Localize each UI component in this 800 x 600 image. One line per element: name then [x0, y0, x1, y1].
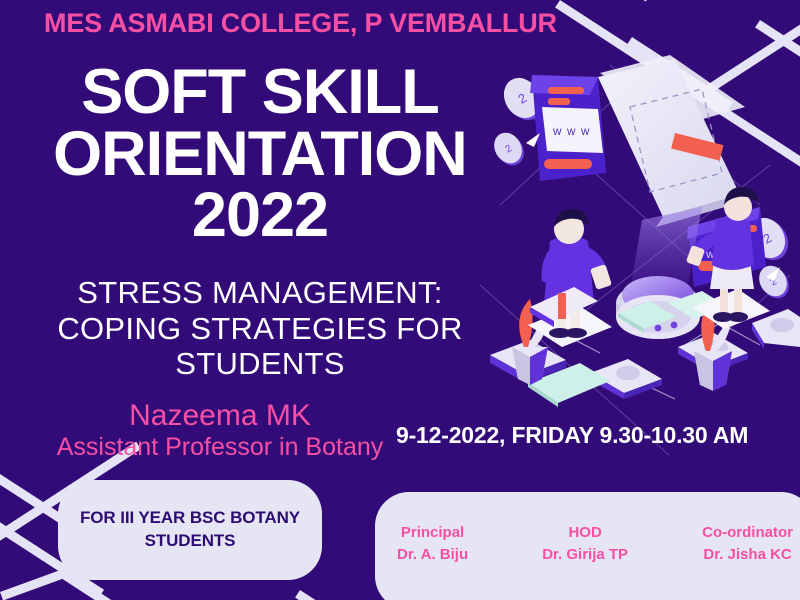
- officer-hod: HOD Dr. Girija TP: [542, 522, 628, 566]
- college-name: MES ASMABI COLLEGE, P VEMBALLUR: [44, 8, 557, 39]
- officer-role: Co-ordinator: [702, 522, 793, 544]
- session-topic: STRESS MANAGEMENT: COPING STRATEGIES FOR…: [10, 275, 510, 382]
- officer-name: Dr. Girija TP: [542, 544, 628, 566]
- audience-text: FOR III YEAR BSC BOTANY STUDENTS: [68, 507, 312, 553]
- title-line-2: ORIENTATION: [0, 124, 520, 186]
- officer-coordinator: Co-ordinator Dr. Jisha KC: [702, 522, 793, 566]
- officer-name: Dr. A. Biju: [397, 544, 468, 566]
- page-title: SOFT SKILL ORIENTATION 2022: [0, 62, 520, 247]
- subtitle-line-1: STRESS MANAGEMENT:: [10, 275, 510, 311]
- person-left-figure: [528, 209, 612, 347]
- poster-canvas: 2 2 2 2 W W W: [0, 0, 800, 600]
- www-label-left: W W W: [553, 127, 591, 137]
- speaker-name: Nazeema MK: [10, 398, 430, 433]
- officer-role: Principal: [397, 522, 468, 544]
- deco-line-icon: [640, 0, 771, 2]
- subtitle-line-3: STUDENTS: [10, 346, 510, 382]
- speaker-block: Nazeema MK Assistant Professor in Botany: [10, 398, 430, 463]
- officer-principal: Principal Dr. A. Biju: [397, 522, 468, 566]
- officer-name: Dr. Jisha KC: [702, 544, 793, 566]
- officials-panel: Principal Dr. A. Biju HOD Dr. Girija TP …: [375, 492, 800, 600]
- audience-line-1: FOR III YEAR BSC BOTANY: [80, 508, 300, 527]
- officer-role: HOD: [542, 522, 628, 544]
- audience-badge: FOR III YEAR BSC BOTANY STUDENTS: [58, 480, 322, 580]
- title-line-3: 2022: [0, 185, 520, 247]
- session-datetime: 9-12-2022, FRIDAY 9.30-10.30 AM: [396, 422, 748, 449]
- title-line-1: SOFT SKILL: [0, 62, 520, 124]
- subtitle-line-2: COPING STRATEGIES FOR: [10, 311, 510, 347]
- audience-line-2: STUDENTS: [145, 531, 236, 550]
- speaker-role: Assistant Professor in Botany: [10, 433, 430, 463]
